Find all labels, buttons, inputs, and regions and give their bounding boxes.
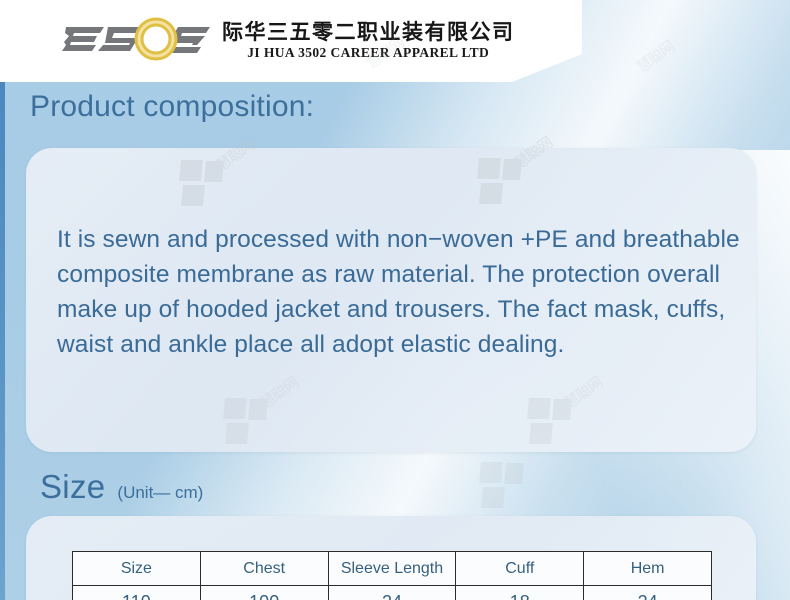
table-header-cell: Sleeve Length	[328, 552, 456, 586]
size-heading-label: Size	[40, 468, 105, 506]
table-header-cell: Chest	[200, 552, 328, 586]
company-name-english: JI HUA 3502 CAREER APPAREL LTD	[222, 46, 515, 60]
table-row: 110100241824	[73, 586, 712, 600]
left-accent-stripe	[0, 62, 5, 600]
header-band: 际华三五零二职业装有限公司 JI HUA 3502 CAREER APPAREL…	[0, 0, 790, 84]
company-name-chinese: 际华三五零二职业装有限公司	[222, 22, 515, 43]
table-cell: 100	[200, 586, 328, 600]
company-logo-3502-icon	[60, 17, 212, 65]
table-header-row: SizeChestSleeve LengthCuffHem	[73, 552, 712, 586]
composition-paragraph: It is sewn and processed with non−woven …	[57, 222, 757, 362]
size-table: SizeChestSleeve LengthCuffHem 1101002418…	[72, 551, 712, 600]
table-header-cell: Cuff	[456, 552, 584, 586]
table-header-cell: Size	[73, 552, 201, 586]
page-title: Product composition:	[30, 90, 314, 124]
table-cell: 18	[456, 586, 584, 600]
company-name-block: 际华三五零二职业装有限公司 JI HUA 3502 CAREER APPAREL…	[222, 22, 515, 60]
table-cell: 24	[328, 586, 456, 600]
table-cell: 24	[584, 586, 712, 600]
size-section-heading: Size (Unit— cm)	[40, 468, 203, 506]
table-header-cell: Hem	[584, 552, 712, 586]
size-table-container: SizeChestSleeve LengthCuffHem 1101002418…	[72, 551, 712, 600]
size-unit-note: (Unit— cm)	[117, 483, 203, 503]
slide-page: 际华三五零二职业装有限公司 JI HUA 3502 CAREER APPAREL…	[0, 0, 790, 600]
table-cell: 110	[73, 586, 201, 600]
